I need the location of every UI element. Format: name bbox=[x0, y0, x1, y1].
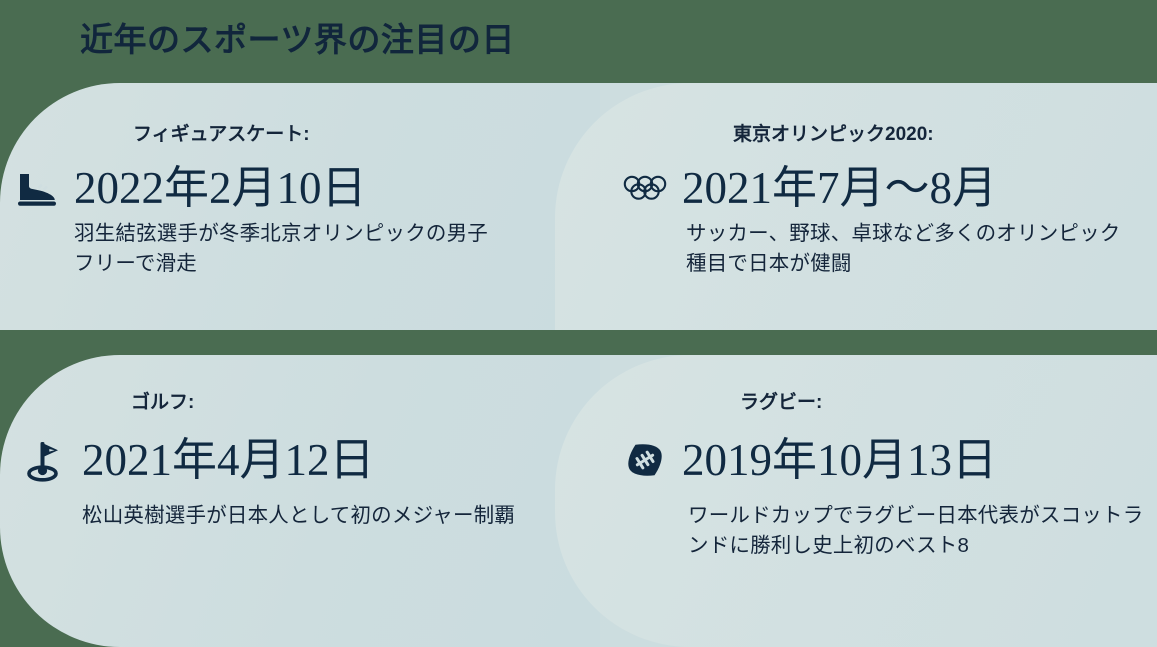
page-title: 近年のスポーツ界の注目の日 bbox=[80, 25, 515, 58]
card-kicker: 東京オリンピック2020: bbox=[733, 125, 1157, 144]
card-kicker: ゴルフ: bbox=[131, 393, 600, 412]
card-date: 2022年2月10日 bbox=[74, 164, 367, 213]
card-rugby[interactable]: ラグビー: bbox=[600, 355, 1157, 647]
card-date-line: 2021年7月〜8月 bbox=[622, 164, 1157, 213]
card-date-line: 2019年10月13日 bbox=[622, 436, 1157, 485]
card-kicker: フィギュアスケート: bbox=[133, 125, 600, 144]
card-kicker: ラグビー: bbox=[740, 393, 1157, 412]
card-golf[interactable]: ゴルフ: 2021年4月12日 松山英樹選手が日本人として初のメジャー制覇 bbox=[0, 355, 600, 647]
card-date-line: 2021年4月12日 bbox=[22, 436, 600, 485]
infographic-page: 近年のスポーツ界の注目の日 フィギュアスケート: 2022年 bbox=[0, 0, 1157, 647]
card-description: 松山英樹選手が日本人として初のメジャー制覇 bbox=[82, 501, 552, 531]
card-figure-skating[interactable]: フィギュアスケート: 2022年2月10日 羽生結弦選手が冬季北京オリンピックの… bbox=[0, 83, 600, 330]
card-date: 2021年7月〜8月 bbox=[682, 164, 997, 213]
card-date-line: 2022年2月10日 bbox=[14, 164, 600, 213]
page-header: 近年のスポーツ界の注目の日 bbox=[0, 0, 1157, 83]
ice-skate-icon bbox=[14, 165, 60, 211]
card-description: ワールドカップでラグビー日本代表がスコットランドに勝利し史上初のベスト8 bbox=[688, 501, 1157, 562]
rugby-ball-icon bbox=[622, 437, 668, 483]
card-description: サッカー、野球、卓球など多くのオリンピック種目で日本が健闘 bbox=[686, 219, 1126, 280]
golf-flag-icon bbox=[22, 437, 68, 483]
card-tokyo-olympics[interactable]: 東京オリンピック2020: 2021年7月〜8月 サッカー、野球、卓球など多くの… bbox=[600, 83, 1157, 330]
card-row-bottom: ゴルフ: 2021年4月12日 松山英樹選手が日本人として初のメジャー制覇 bbox=[0, 355, 1157, 647]
card-date: 2019年10月13日 bbox=[682, 436, 997, 485]
card-row-top: フィギュアスケート: 2022年2月10日 羽生結弦選手が冬季北京オリンピックの… bbox=[0, 83, 1157, 330]
card-description: 羽生結弦選手が冬季北京オリンピックの男子フリーで滑走 bbox=[74, 219, 499, 280]
olympic-rings-icon bbox=[622, 165, 668, 211]
card-date: 2021年4月12日 bbox=[82, 436, 375, 485]
